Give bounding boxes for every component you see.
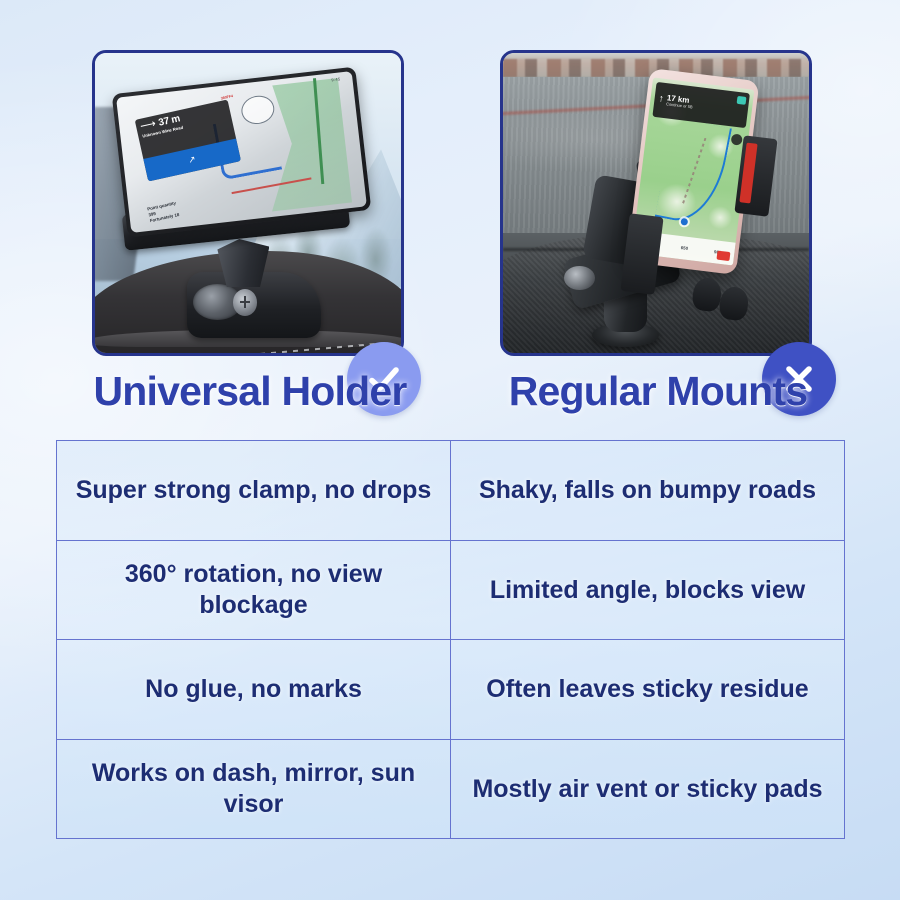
arm-adjust-knob — [564, 266, 595, 290]
straight-arrow-icon: ↑ — [658, 95, 664, 106]
column-headings: Universal Holder Regular Mounts — [0, 368, 900, 426]
mounted-phone: 9:45 380FF4 ⟶ 37 m Unknown Wine Road ↗ P… — [112, 67, 372, 238]
comparison-infographic: 9:45 380FF4 ⟶ 37 m Unknown Wine Road ↗ P… — [0, 0, 900, 900]
cell-universal-holder-1: Super strong clamp, no drops — [57, 441, 451, 540]
left-photo-scene: 9:45 380FF4 ⟶ 37 m Unknown Wine Road ↗ P… — [95, 53, 401, 353]
map-red-tag: 380FF4 — [221, 93, 234, 100]
table-row: Works on dash, mirror, sun visor Mostly … — [57, 740, 844, 839]
table-row: Super strong clamp, no drops Shaky, fall… — [57, 441, 844, 541]
navigation-road-name: Continue or 5B — [665, 102, 692, 110]
cell-regular-mounts-4: Mostly air vent or sticky pads — [451, 740, 844, 839]
map-poi-info: Point quantity 399 Fortunately 18 — [147, 200, 180, 224]
bottom-stat-2: 650 — [680, 245, 688, 251]
table-row: No glue, no marks Often leaves sticky re… — [57, 640, 844, 740]
cell-universal-holder-3: No glue, no marks — [57, 640, 451, 739]
column-heading-universal-holder: Universal Holder — [48, 368, 452, 415]
cell-regular-mounts-2: Limited angle, blocks view — [451, 541, 844, 640]
holder-neck — [217, 239, 269, 287]
navigation-text: 17 km Continue or 5B — [665, 94, 693, 110]
phone-status-bar: 9:45 — [332, 76, 342, 82]
suction-cup-telescopic-arm-mount-photo: ↑ 17 km Continue or 5B 5:39 650 980 — [500, 50, 812, 356]
product-photo-row: 9:45 380FF4 ⟶ 37 m Unknown Wine Road ↗ P… — [0, 50, 900, 356]
dashboard-clip-phone-holder-photo: 9:45 380FF4 ⟶ 37 m Unknown Wine Road ↗ P… — [92, 50, 404, 356]
comparison-table: Super strong clamp, no drops Shaky, fall… — [56, 440, 845, 839]
clip-screw — [233, 289, 257, 316]
cell-regular-mounts-1: Shaky, falls on bumpy roads — [451, 441, 844, 540]
cell-universal-holder-4: Works on dash, mirror, sun visor — [57, 740, 451, 839]
right-photo-scene: ↑ 17 km Continue or 5B 5:39 650 980 — [503, 53, 809, 353]
cell-universal-holder-2: 360° rotation, no view blockage — [57, 541, 451, 640]
phone-screen: 9:45 380FF4 ⟶ 37 m Unknown Wine Road ↗ P… — [117, 71, 368, 233]
column-heading-regular-mounts: Regular Mounts — [452, 368, 864, 415]
cell-regular-mounts-3: Often leaves sticky residue — [451, 640, 844, 739]
table-row: 360° rotation, no view blockage Limited … — [57, 541, 844, 641]
navigation-chip-icon — [736, 96, 746, 105]
